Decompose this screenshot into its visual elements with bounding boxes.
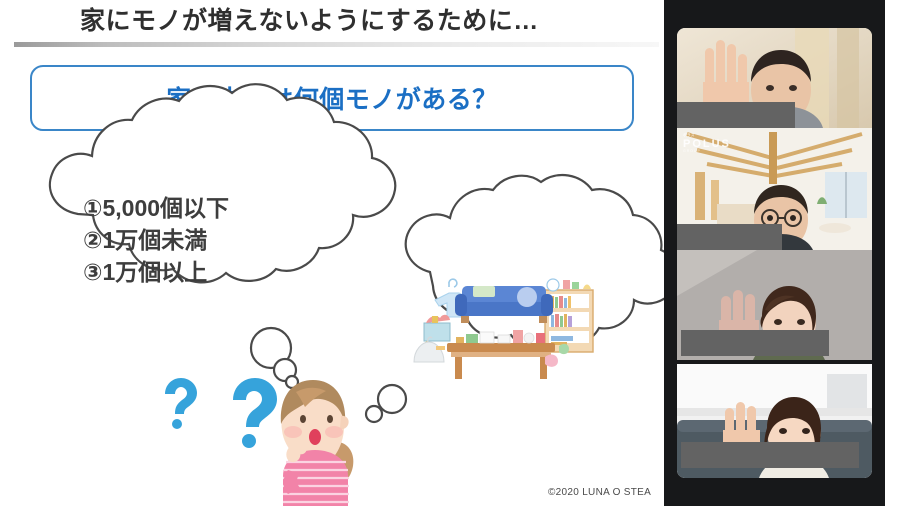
question-box-text: 家の中には何個モノがある？ [166, 80, 498, 116]
right-margin [885, 0, 900, 506]
room-thought-cloud [406, 175, 664, 348]
beanbag-icon [414, 337, 444, 362]
floor-toys-icon [436, 344, 569, 367]
presentation-slide: 家にモノが増えないようにするために… 家の中には何個モノがある？ [0, 0, 664, 506]
room-cloud-trail [366, 385, 406, 422]
coffee-table-icon [447, 330, 555, 379]
room-illustration [414, 279, 593, 379]
question-box: 家の中には何個モノがある？ [30, 65, 634, 131]
participant-4-name-redaction [681, 442, 859, 468]
sofa-icon [455, 286, 553, 323]
thinking-woman-illustration [281, 380, 354, 506]
polus-wordmark: POLUS [683, 138, 731, 150]
polus-tagline-bottom: GROUP [683, 150, 731, 154]
polus-tagline-top: ポラス [683, 134, 731, 138]
hanging-clothes-icon [435, 279, 473, 317]
video-tile-participant-3[interactable] [677, 250, 872, 360]
option-item-2: ②1万個未満 [83, 224, 363, 256]
page-title: 家にモノが増えないようにするために… [80, 4, 650, 38]
video-tile-participant-1[interactable] [677, 28, 872, 128]
participant-1-name-redaction [677, 102, 795, 128]
bookshelf-icon [545, 279, 593, 352]
video-tile-participant-4[interactable] [677, 364, 872, 478]
title-divider [14, 42, 659, 47]
polus-watermark: ポラス POLUS GROUP [683, 134, 731, 153]
toy-box-icon [421, 315, 450, 345]
video-conference-panel: ポラス POLUS GROUP [664, 0, 885, 506]
participant-2-name-redaction [677, 224, 782, 250]
video-tile-participant-2[interactable]: ポラス POLUS GROUP [677, 128, 872, 250]
options-list: ①5,000個以下 ②1万個未満 ③1万個以上 [83, 192, 363, 288]
participant-3-name-redaction [681, 330, 829, 356]
option-item-1: ①5,000個以下 [83, 192, 363, 224]
options-cloud-trail [251, 328, 298, 388]
option-item-3: ③1万個以上 [83, 256, 363, 288]
copyright-notice: ©2020 LUNA O STEA [548, 487, 651, 498]
screenshot-root: 家にモノが増えないようにするために… 家の中には何個モノがある？ [0, 0, 900, 506]
question-mark-icons [165, 378, 277, 448]
